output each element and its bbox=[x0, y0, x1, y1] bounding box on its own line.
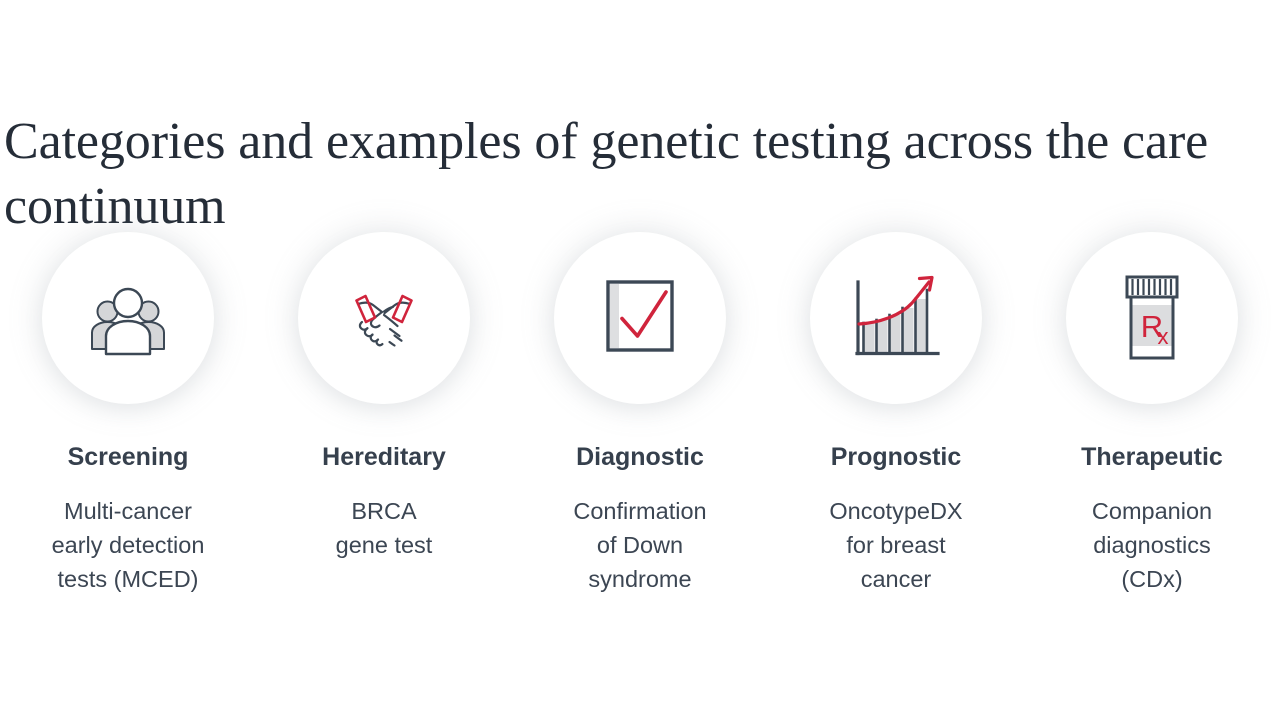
category-label: Prognostic bbox=[831, 442, 962, 472]
category-item-diagnostic: Diagnostic Confirmation of Down syndrome bbox=[512, 225, 768, 596]
category-description: OncotypeDX for breast cancer bbox=[829, 494, 962, 596]
svg-text:x: x bbox=[1158, 324, 1169, 349]
prescription-bottle-icon: R x bbox=[1106, 268, 1198, 368]
category-description: BRCA gene test bbox=[336, 494, 433, 562]
page-title: Categories and examples of genetic testi… bbox=[4, 109, 1224, 239]
category-item-prognostic: Prognostic OncotypeDX for breast cancer bbox=[768, 225, 1024, 596]
category-description: Companion diagnostics (CDx) bbox=[1092, 494, 1212, 596]
people-group-icon bbox=[80, 270, 176, 366]
icon-circle-therapeutic: R x bbox=[1066, 232, 1238, 404]
category-item-therapeutic: R x Therapeutic Companion diagnostics (C… bbox=[1024, 225, 1280, 596]
icon-circle-prognostic bbox=[810, 232, 982, 404]
category-label: Diagnostic bbox=[576, 442, 704, 472]
category-row: Screening Multi-cancer early detection t… bbox=[0, 225, 1280, 596]
growth-bar-chart-icon bbox=[844, 268, 948, 368]
category-item-screening: Screening Multi-cancer early detection t… bbox=[0, 225, 256, 596]
handshake-icon bbox=[332, 266, 436, 370]
icon-circle-hereditary bbox=[298, 232, 470, 404]
category-label: Therapeutic bbox=[1081, 442, 1223, 472]
icon-circle-diagnostic bbox=[554, 232, 726, 404]
category-description: Multi-cancer early detection tests (MCED… bbox=[52, 494, 205, 596]
icon-circle-screening bbox=[42, 232, 214, 404]
category-label: Hereditary bbox=[322, 442, 446, 472]
checkbox-check-icon bbox=[592, 270, 688, 366]
category-description: Confirmation of Down syndrome bbox=[573, 494, 706, 596]
category-item-hereditary: Hereditary BRCA gene test bbox=[256, 225, 512, 562]
category-label: Screening bbox=[68, 442, 189, 472]
